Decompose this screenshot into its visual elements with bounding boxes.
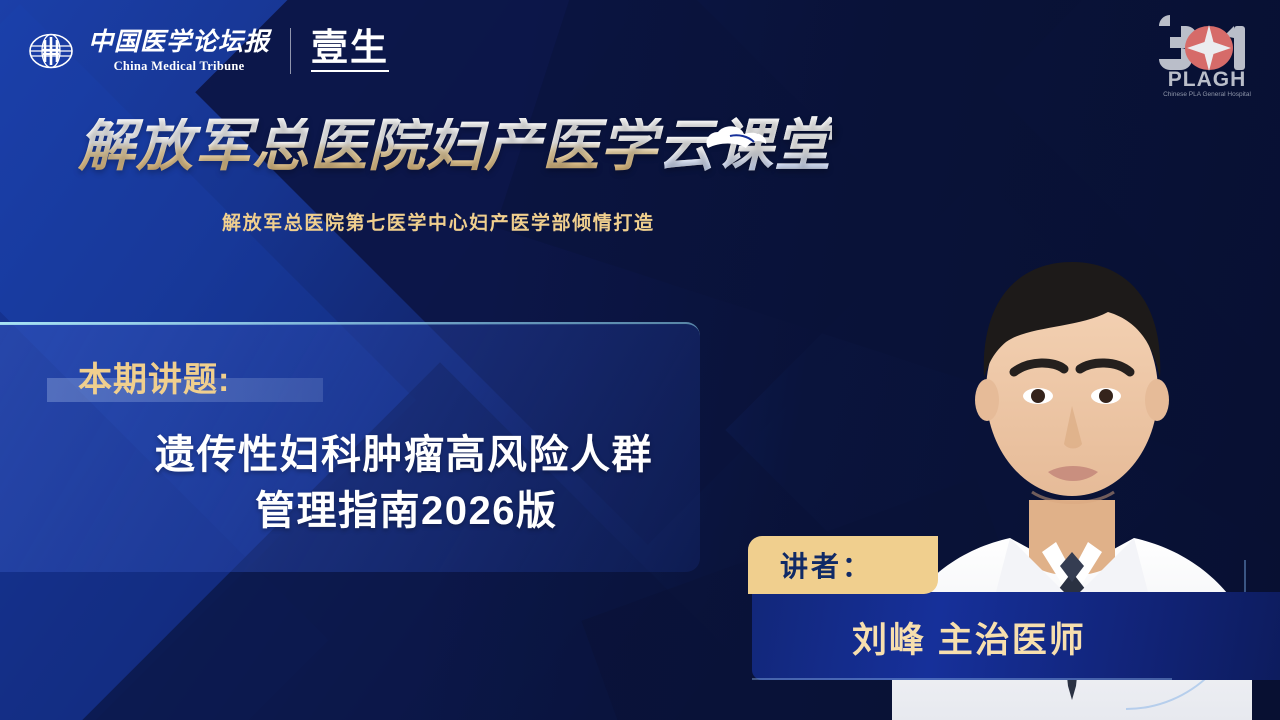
globe-icon <box>28 29 74 73</box>
topic-label: 本期讲题: <box>78 352 230 401</box>
brand-name-block: 中国医学论坛报 China Medical Tribune <box>88 30 270 73</box>
brand-name-zh: 中国医学论坛报 <box>88 30 270 55</box>
brand-lockup: 中国医学论坛报 China Medical Tribune 壹生 <box>28 28 389 74</box>
speaker-underline <box>752 678 1172 680</box>
topic-panel-top-edge <box>0 322 700 325</box>
svg-text:PLAGH: PLAGH <box>1168 68 1247 91</box>
speaker-name: 刘峰 主治医师 <box>852 612 1086 663</box>
sub-brand-label: 壹生 <box>311 30 389 73</box>
speaker-label-tab: 讲者： <box>748 536 938 594</box>
poster-canvas: 中国医学论坛报 China Medical Tribune 壹生 PLAGH C… <box>0 0 1280 720</box>
brand-name-en: China Medical Tribune <box>114 60 245 73</box>
topic-line-1: 遗传性妇科肿瘤高风险人群 <box>155 422 653 480</box>
speaker-label: 讲者： <box>780 545 873 585</box>
hero-subtitle: 解放军总医院第七医学中心妇产医学部倾情打造 <box>222 208 655 235</box>
topic-line-2: 管理指南2026版 <box>255 478 557 536</box>
brand-divider <box>290 28 291 74</box>
hero-title-part1: 解放军总医院妇产医学 <box>78 114 658 178</box>
cloud-swoosh-icon <box>700 122 772 162</box>
301-plagh-logo: PLAGH Chinese PLA General Hospital <box>1152 12 1262 98</box>
hero-title-wrap: 解放军总医院妇产医学云课堂 <box>78 118 832 175</box>
svg-text:Chinese PLA General Hospital: Chinese PLA General Hospital <box>1163 91 1251 98</box>
